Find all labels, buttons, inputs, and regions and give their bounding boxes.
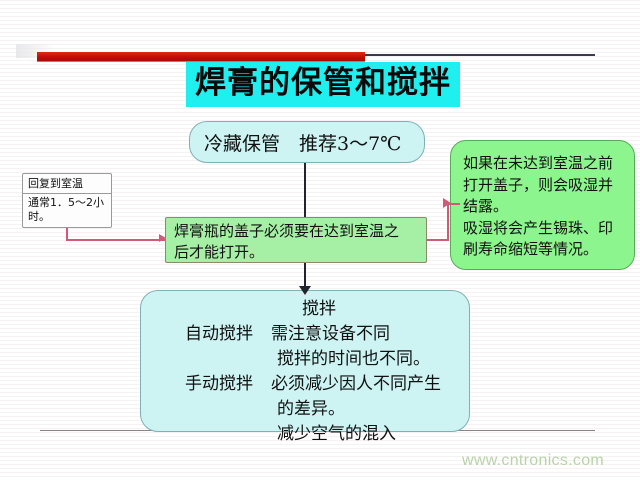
mixing-auto-line-2: 搅拌的时间也不同。	[141, 347, 469, 372]
cold-storage-text: 冷藏保管 推荐3～7℃	[204, 129, 401, 156]
mixing-manual-line-2: 的差异。	[141, 397, 469, 422]
warning-line-3: 结露。	[463, 196, 628, 218]
warning-box: 如果在未达到室温之前 打开盖子，则会吸湿并 结露。 吸湿将会产生锡珠、印 刷寿命…	[450, 140, 635, 270]
mixing-title: 搅拌	[141, 297, 469, 322]
warning-line-5: 刷寿命缩短等情况。	[463, 239, 628, 261]
mixing-auto-label: 自动搅拌	[141, 322, 253, 347]
arrow-right-icon-into-warning	[443, 198, 451, 208]
warning-line-2: 打开盖子，则会吸湿并	[463, 175, 628, 197]
cold-storage-box: 冷藏保管 推荐3～7℃	[189, 121, 425, 163]
red-accent-bar	[37, 52, 365, 61]
cap-rule-box: 焊膏瓶的盖子必须要在达到室温之 后才能打开。	[165, 217, 427, 263]
mixing-manual-line-3: 减少空气的混入	[141, 422, 469, 447]
arrow-down-icon	[299, 286, 311, 295]
connector-room-horizontal	[66, 239, 165, 241]
connector-cap-to-warning-h1	[427, 239, 449, 241]
mixing-auto-line-1: 需注意设备不同	[253, 322, 469, 347]
mixing-manual-label: 手动搅拌	[141, 372, 253, 397]
arrow-right-icon-into-cap	[159, 234, 166, 242]
cap-rule-line-1: 焊膏瓶的盖子必须要在达到室温之	[174, 221, 420, 242]
room-temp-body: 通常1．5～2小时。	[23, 194, 111, 224]
mixing-manual-row: 手动搅拌 必须减少因人不同产生	[141, 372, 469, 397]
mixing-manual-line-1: 必须减少因人不同产生	[253, 372, 469, 397]
room-temp-box: 回复到室温 通常1．5～2小时。	[22, 173, 112, 228]
connector-cap-to-warning-v	[447, 203, 449, 241]
page-title: 焊膏的保管和搅拌	[186, 62, 460, 107]
slide-canvas: 焊膏的保管和搅拌 冷藏保管 推荐3～7℃ 回复到室温 通常1．5～2小时。 焊膏…	[0, 0, 640, 480]
mixing-auto-row: 自动搅拌 需注意设备不同	[141, 322, 469, 347]
warning-line-4: 吸湿将会产生锡珠、印	[463, 218, 628, 240]
room-temp-heading: 回复到室温	[23, 174, 111, 193]
connector-cold-to-cap	[304, 163, 306, 217]
cap-rule-line-2: 后才能打开。	[174, 242, 420, 263]
connector-cap-to-mixing	[304, 263, 306, 288]
warning-line-1: 如果在未达到室温之前	[463, 153, 628, 175]
header-thin-rule	[365, 54, 595, 56]
mixing-box: 搅拌 自动搅拌 需注意设备不同 搅拌的时间也不同。 手动搅拌 必须减少因人不同产…	[140, 290, 470, 432]
watermark-text: www.cntronics.com	[462, 452, 604, 470]
